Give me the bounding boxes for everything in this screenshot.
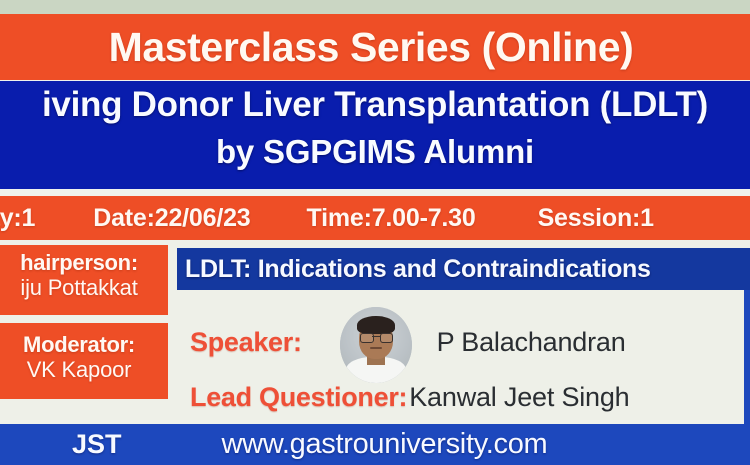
eyeglasses-right-lens-icon xyxy=(380,333,394,343)
masterclass-poster: Masterclass Series (Online) iving Donor … xyxy=(0,0,750,465)
moderator-label: Moderator: xyxy=(0,333,168,358)
right-edge-blue-sliver xyxy=(744,290,750,424)
footer-bar: JST www.gastrouniversity.com xyxy=(0,424,750,465)
eyeglasses-left-lens-icon xyxy=(360,333,374,343)
organizer-brand: JST xyxy=(72,429,122,460)
day-value: ay:1 xyxy=(0,204,35,233)
chairperson-block: hairperson: iju Pottakkat xyxy=(0,245,168,315)
topic-title: LDLT: Indications and Contraindications xyxy=(185,255,651,284)
speaker-photo-avatar xyxy=(340,307,412,383)
chairperson-name: iju Pottakkat xyxy=(0,276,168,301)
time-value: Time:7.00-7.30 xyxy=(306,204,475,233)
lead-questioner-name: Kanwal Jeet Singh xyxy=(409,382,629,413)
header-banner: Masterclass Series (Online) xyxy=(0,14,750,80)
faculty-column: hairperson: iju Pottakkat Moderator: VK … xyxy=(0,245,168,420)
moderator-name: VK Kapoor xyxy=(0,358,168,383)
subtitle-line-secondary: by SGPGIMS Alumni xyxy=(0,133,750,171)
top-background-strip xyxy=(0,0,750,15)
subtitle-line-primary: iving Donor Liver Transplantation (LDLT) xyxy=(0,85,750,125)
speaker-row: Speaker: P Balachandran xyxy=(190,318,750,366)
lead-questioner-row: Lead Questioner: Kanwal Jeet Singh xyxy=(190,375,750,419)
subtitle-banner: iving Donor Liver Transplantation (LDLT)… xyxy=(0,81,750,189)
top-right-background-sliver xyxy=(746,0,750,14)
session-value: Session:1 xyxy=(538,204,654,233)
speaker-name: P Balachandran xyxy=(437,327,626,358)
speaker-portrait-photo xyxy=(340,307,412,383)
date-value: Date:22/06/23 xyxy=(93,204,250,233)
topic-bar: LDLT: Indications and Contraindications xyxy=(177,248,750,290)
speaker-label: Speaker: xyxy=(190,327,302,358)
lead-questioner-label: Lead Questioner: xyxy=(190,382,407,413)
website-url[interactable]: www.gastrouniversity.com xyxy=(222,428,548,461)
chairperson-label: hairperson: xyxy=(0,251,168,276)
moderator-block: Moderator: VK Kapoor xyxy=(0,323,168,399)
poster-title: Masterclass Series (Online) xyxy=(109,24,634,71)
session-info-bar: ay:1 Date:22/06/23 Time:7.00-7.30 Sessio… xyxy=(0,196,750,240)
